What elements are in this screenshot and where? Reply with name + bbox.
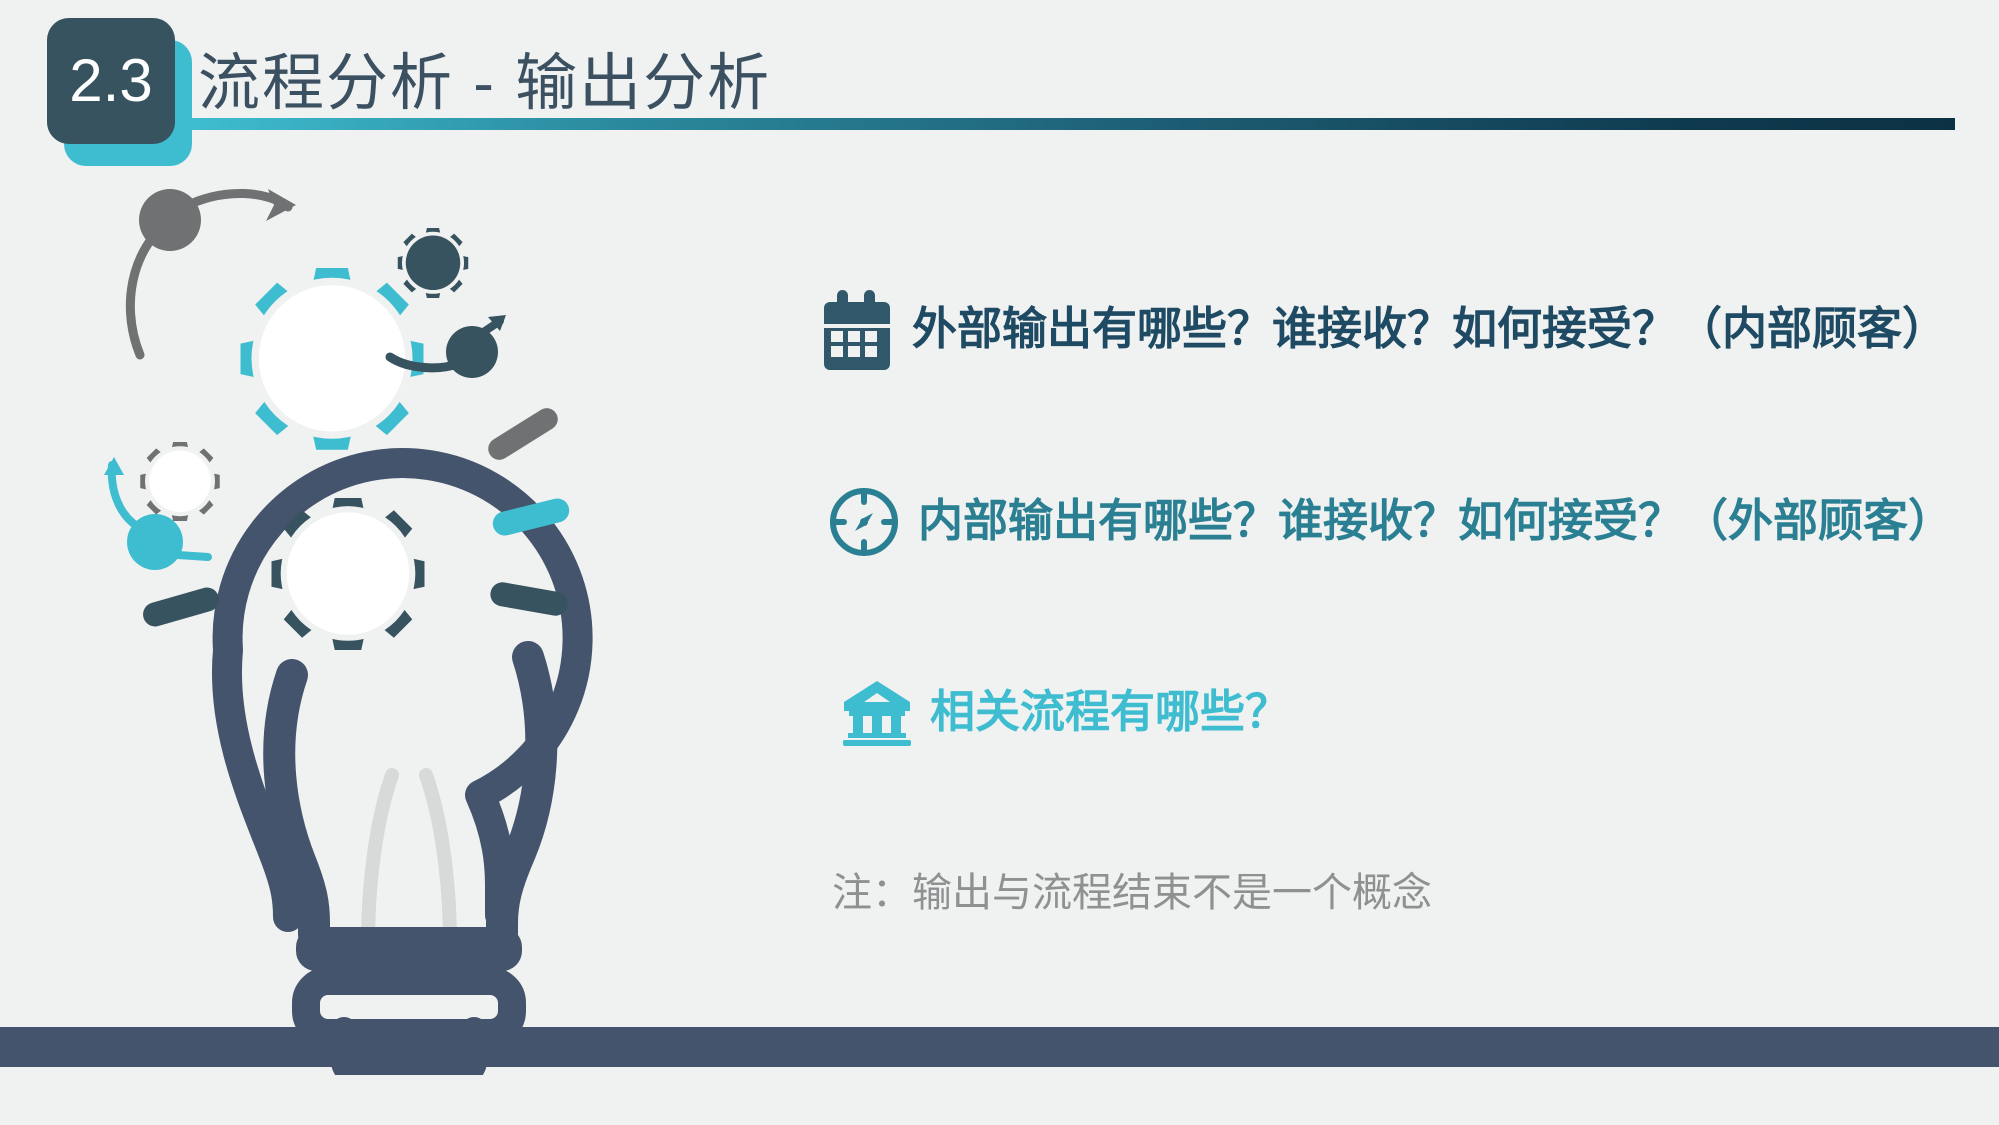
- compass-icon: [828, 486, 900, 558]
- header-badge-number: 2.3: [69, 51, 152, 111]
- bank-icon: [842, 680, 912, 746]
- footer-bar: [0, 1027, 1999, 1067]
- gear-gray-small: [140, 442, 220, 521]
- gear-navy-large: [272, 498, 425, 650]
- bullet-label-1: 内部输出有哪些？谁接收？如何接受？（外部顾客）: [918, 497, 1953, 547]
- slide-canvas: 2.3 流程分析 - 输出分析: [0, 0, 1999, 1125]
- bullet-row-related-processes[interactable]: 相关流程有哪些？: [842, 680, 1290, 746]
- header-underline-rule: [190, 118, 1955, 130]
- calendar-icon: [820, 290, 894, 370]
- bullet-row-internal-output[interactable]: 内部输出有哪些？谁接收？如何接受？（外部顾客）: [828, 486, 1953, 558]
- footnote-text: 注：输出与流程结束不是一个概念: [832, 860, 1432, 918]
- lightbulb-gears-illustration: [100, 175, 720, 1075]
- page-title: 流程分析 - 输出分析: [198, 32, 771, 122]
- gear-navy-small: [398, 228, 469, 298]
- bullet-label-0: 外部输出有哪些？谁接收？如何接受？（内部顾客）: [912, 305, 1947, 355]
- bullet-row-external-output[interactable]: 外部输出有哪些？谁接收？如何接受？（内部顾客）: [820, 290, 1947, 370]
- bullet-label-2: 相关流程有哪些？: [930, 688, 1290, 738]
- header-badge: 2.3: [47, 18, 175, 144]
